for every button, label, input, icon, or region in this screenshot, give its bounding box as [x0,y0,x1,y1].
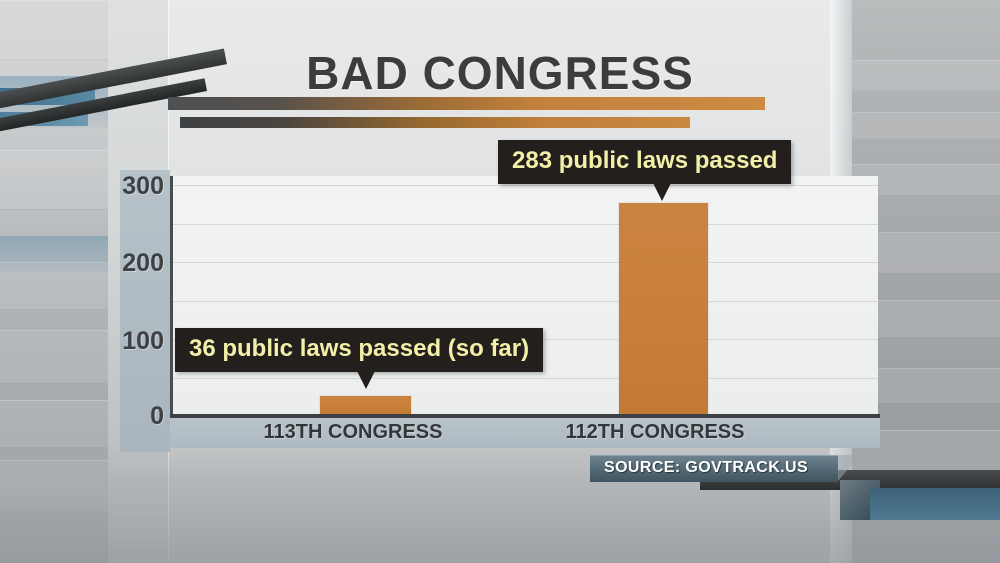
x-axis-label-112th: 112TH CONGRESS [545,421,765,444]
bar-112th-congress [619,203,708,417]
gridline [173,224,878,225]
y-tick-label: 100 [118,327,164,356]
callout-pointer-113th [355,367,377,389]
plot-area [170,176,878,417]
broadcast-graphic: BAD CONGRESS 300 200 100 0 113TH CONGRES… [0,0,1000,563]
y-axis-panel: 300 200 100 0 [120,170,170,452]
source-bar-tail [838,455,860,481]
y-tick-label: 0 [118,402,164,431]
title-accent-rule-top [168,97,765,110]
y-tick-label: 200 [118,249,164,278]
gridline [173,185,878,186]
callout-pointer-112th [651,179,673,201]
page-title: BAD CONGRESS [0,46,1000,100]
gridline [173,301,878,302]
x-axis-label-113th: 113TH CONGRESS [243,421,463,444]
callout-112th-congress: 283 public laws passed [498,140,791,184]
source-label: SOURCE: GOVTRACK.US [604,459,808,477]
callout-113th-congress: 36 public laws passed (so far) [175,328,543,372]
y-tick-label: 300 [118,172,164,201]
decor-blue-beam-bottom-right [870,488,1000,520]
title-accent-rule-bottom [180,117,690,128]
gridline [173,262,878,263]
gridline [173,378,878,379]
